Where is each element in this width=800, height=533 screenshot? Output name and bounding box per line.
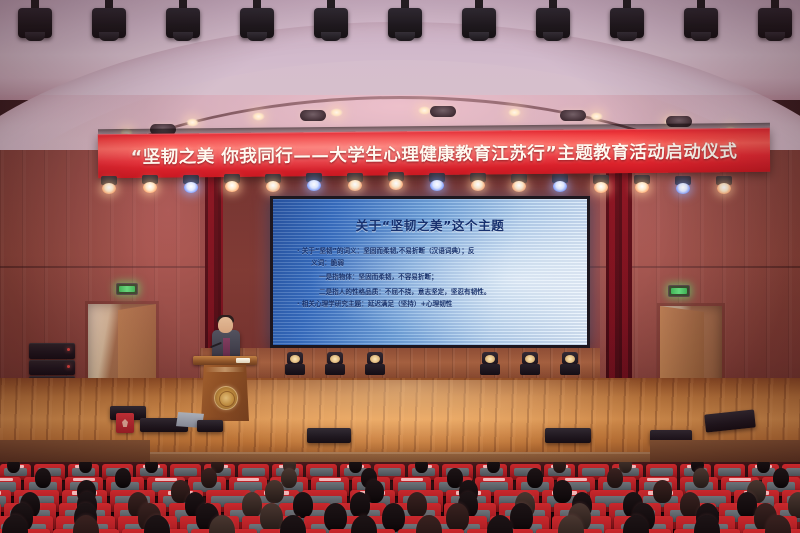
- audience-member: [35, 468, 51, 488]
- audience-seating: [0, 462, 800, 533]
- ceiling-spotlight: [18, 0, 52, 48]
- moving-head-floor-light: [520, 352, 540, 378]
- slide-body: · 关于“坚韧”的词义：坚固而柔韧,不易折断（汉语词典）；反义词：脆弱一是指物体…: [287, 246, 573, 309]
- moving-head-floor-light: [560, 352, 580, 378]
- audience-member: [201, 468, 217, 488]
- speaker-head: [218, 317, 233, 333]
- recessed-downlight: [330, 108, 343, 117]
- led-screen-surface: 关于“坚韧之美”这个主题 · 关于“坚韧”的词义：坚固而柔韧,不易折断（汉语词典…: [273, 199, 587, 345]
- moving-head-light: [469, 173, 487, 195]
- audience-member: [293, 492, 314, 518]
- slide-title: 关于“坚韧之美”这个主题: [287, 215, 573, 234]
- banner-text: “坚韧之美 你我同行——大学生心理健康教育江苏行”主题教育活动启动仪式: [131, 138, 738, 169]
- moving-head-light: [346, 173, 364, 195]
- presentation-slide: 关于“坚韧之美”这个主题 · 关于“坚韧”的词义：坚固而柔韧,不易折断（汉语词典…: [273, 199, 587, 345]
- moving-head-light: [305, 173, 323, 195]
- led-screen: 关于“坚韧之美”这个主题 · 关于“坚韧”的词义：坚固而柔韧,不易折断（汉语词典…: [270, 196, 590, 348]
- slide-line: · 相关心理学研究主题：延迟满足（坚持）+心理韧性: [295, 299, 573, 309]
- seat-row-label: [0, 491, 1, 495]
- exit-sign-glyph: [119, 286, 135, 292]
- seat-cushion: [310, 468, 334, 476]
- exit-sign-right: [668, 285, 690, 297]
- recessed-downlight: [508, 108, 521, 117]
- pa-speaker-cabinet: [29, 343, 75, 359]
- floor-monitor: [545, 428, 591, 443]
- stage-back-skirt: [200, 348, 600, 380]
- slide-line: 义词：脆弱: [295, 258, 573, 268]
- audience-member: [281, 468, 297, 488]
- moving-head-light: [715, 176, 733, 198]
- seat-cushion: [718, 468, 742, 476]
- moving-head-floor-light: [365, 352, 385, 378]
- red-tote-bag: [116, 413, 134, 433]
- audience-member: [653, 480, 671, 503]
- seat-row-label: [319, 478, 340, 481]
- auditorium-photo: “坚韧之美 你我同行——大学生心理健康教育江苏行”主题教育活动启动仪式 关于“坚…: [0, 0, 800, 533]
- recessed-downlight: [252, 112, 265, 121]
- moving-head-floor-light: [285, 352, 305, 378]
- audience-member: [607, 468, 623, 488]
- ceiling-spotlight: [536, 0, 570, 48]
- speaker-shirt: [223, 338, 230, 358]
- ceiling-spotlight: [166, 0, 200, 48]
- audience-member: [788, 492, 800, 518]
- floor-monitor: [197, 420, 223, 432]
- pa-speaker-cabinet: [29, 360, 75, 375]
- event-banner: “坚韧之美 你我同行——大学生心理健康教育江苏行”主题教育活动启动仪式: [98, 128, 770, 178]
- wall-seam-left: [0, 266, 210, 268]
- moving-head-light: [633, 175, 651, 197]
- moving-head-light: [551, 174, 569, 196]
- seat-cushion: [242, 468, 266, 476]
- seat-row-label: [729, 478, 750, 481]
- moving-head-light: [387, 172, 405, 194]
- moving-head-light: [223, 174, 241, 196]
- seat-row-label: [565, 478, 586, 481]
- audience-member: [446, 503, 469, 532]
- moving-head-light: [264, 174, 282, 196]
- audience-member: [382, 503, 405, 532]
- seat-row-label: [401, 478, 422, 481]
- recessed-downlight: [590, 112, 603, 121]
- seat-row-label: [237, 478, 258, 481]
- ceiling-spotlight: [240, 0, 274, 48]
- university-seal-icon: [214, 386, 238, 410]
- slide-line: 一是指物体：坚固而柔韧，不容易折断；: [295, 272, 573, 282]
- moving-head-light: [428, 173, 446, 195]
- speaker-notes: [236, 358, 250, 363]
- exit-sign-left: [116, 283, 138, 295]
- audience-member: [350, 492, 371, 518]
- recessed-downlight: [186, 118, 199, 127]
- ceiling-fixture-housing: [300, 110, 326, 121]
- seat-cushion: [174, 468, 198, 476]
- ceiling-spotlight: [758, 0, 792, 48]
- floor-monitor: [307, 428, 351, 443]
- seat-row-label: [155, 478, 176, 481]
- seat-row-label: [483, 478, 504, 481]
- audience-member: [407, 492, 428, 518]
- audience-member: [553, 480, 571, 503]
- exit-sign-glyph: [671, 288, 687, 294]
- moving-head-light: [674, 176, 692, 198]
- ceiling-fixture-housing: [430, 106, 456, 117]
- podium-nameplate: [205, 367, 245, 372]
- moving-head-light: [141, 175, 159, 197]
- audience-member: [265, 480, 283, 503]
- moving-head-light: [182, 175, 200, 197]
- moving-head-light: [510, 174, 528, 196]
- moving-head-light: [592, 175, 610, 197]
- moving-head-floor-light: [325, 352, 345, 378]
- moving-head-light: [100, 176, 118, 198]
- ceiling-spotlight: [610, 0, 644, 48]
- seat-cushion: [650, 468, 674, 476]
- audience-member: [324, 503, 347, 532]
- ceiling-spotlight: [388, 0, 422, 48]
- slide-line: 二是指人的性格品质：不屈不挠，意志坚定，坚忍有韧性。: [295, 287, 573, 297]
- ceiling-spotlight: [684, 0, 718, 48]
- ceiling-fixture-housing: [560, 110, 586, 121]
- audience-member: [510, 503, 533, 532]
- audience-member: [527, 468, 543, 488]
- ceiling-spotlight: [314, 0, 348, 48]
- seat-cushion: [378, 468, 402, 476]
- seat-cushion: [582, 468, 606, 476]
- audience-member: [693, 468, 709, 488]
- ceiling-spotlight: [92, 0, 126, 48]
- seat-row-label: [0, 478, 13, 481]
- slide-line: · 关于“坚韧”的词义：坚固而柔韧,不易折断（汉语词典）；反: [295, 246, 573, 256]
- moving-head-floor-light: [480, 352, 500, 378]
- stage-light-row: [100, 172, 760, 198]
- ceiling-spotlight: [462, 0, 496, 48]
- audience-member: [115, 468, 131, 488]
- audience-member: [773, 468, 789, 488]
